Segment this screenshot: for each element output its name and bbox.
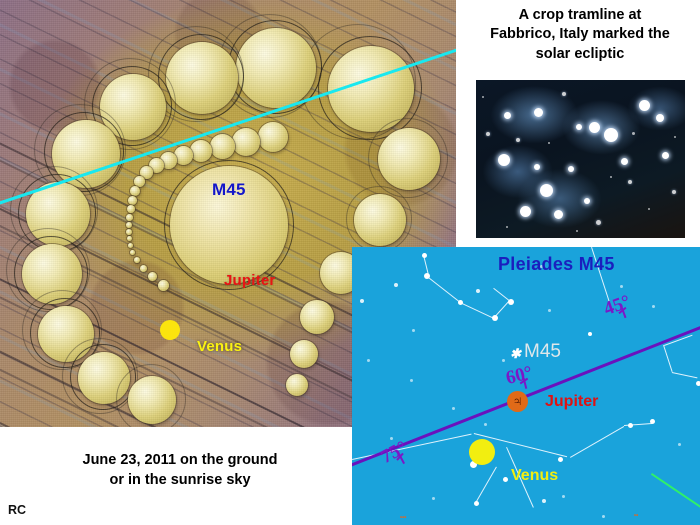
constellation-line [672, 372, 698, 379]
star [367, 359, 370, 362]
jupiter-planet-marker: ♃ [507, 391, 528, 412]
star [482, 96, 484, 98]
star-chart-label-m45: M45 [524, 341, 561, 363]
star [648, 208, 650, 210]
star-chart-label-jupiter: Jupiter [545, 393, 598, 411]
star-chart-title: Pleiades M45 [498, 254, 615, 275]
star [474, 501, 479, 506]
star [458, 300, 463, 305]
aerial-label-jupiter: Jupiter [224, 272, 275, 289]
star [548, 142, 550, 144]
micro-label: ••• [400, 515, 406, 521]
slide-canvas: M45 Jupiter Venus A crop tramline at Fab… [0, 0, 700, 525]
star [548, 309, 551, 312]
star-chart-panel: 45° 60° 75° Pleiades M45 ✱ M45 ♃ Jupiter… [352, 247, 700, 525]
star [576, 124, 582, 130]
star [554, 210, 563, 219]
star [492, 315, 498, 321]
constellation-line [475, 467, 497, 504]
star-chart-label-venus: Venus [511, 467, 558, 485]
tick-mark-icon [519, 377, 532, 390]
star [412, 329, 415, 332]
star [410, 379, 413, 382]
star [652, 305, 655, 308]
aerial-label-m45: M45 [212, 180, 246, 200]
star [672, 190, 676, 194]
star [432, 497, 435, 500]
star [540, 184, 553, 197]
star [562, 92, 566, 96]
star [390, 437, 393, 440]
star [484, 423, 487, 426]
star [502, 359, 505, 362]
star [621, 158, 628, 165]
star [558, 457, 563, 462]
star [588, 332, 592, 336]
star [678, 443, 681, 446]
star [424, 273, 430, 279]
aerial-label-venus: Venus [197, 338, 242, 355]
m45-cluster-icon: ✱ [510, 346, 521, 362]
star [360, 299, 364, 303]
bottom-caption-line-2: or in the sunrise sky [30, 470, 330, 490]
star [662, 152, 669, 159]
star [422, 253, 427, 258]
jupiter-symbol-icon: ♃ [512, 394, 523, 409]
star [674, 136, 676, 138]
star [520, 206, 531, 217]
star [486, 132, 490, 136]
bottom-caption-line-1: June 23, 2011 on the ground [30, 450, 330, 470]
star [602, 515, 605, 518]
star [506, 226, 508, 228]
top-caption: A crop tramline at Fabbrico, Italy marke… [460, 6, 700, 64]
star [568, 166, 574, 172]
celestial-equator-green-line [651, 473, 700, 525]
top-caption-line-2: Fabbrico, Italy marked the [460, 25, 700, 44]
aerial-venus-dot [160, 320, 180, 340]
star [498, 154, 510, 166]
star [576, 230, 578, 232]
constellation-line [663, 345, 673, 372]
star [589, 122, 600, 133]
star [696, 381, 700, 386]
constellation-line [459, 302, 492, 318]
star [639, 100, 650, 111]
ecliptic-tick-60: 60° [504, 362, 535, 390]
star [476, 289, 480, 293]
star [610, 176, 612, 178]
star [628, 180, 632, 184]
star [650, 419, 655, 424]
star [584, 198, 590, 204]
star [604, 128, 618, 142]
star [632, 132, 635, 135]
star [394, 283, 398, 287]
star [516, 138, 520, 142]
constellation-line [425, 275, 461, 303]
star [534, 108, 543, 117]
star [562, 495, 565, 498]
star [504, 112, 511, 119]
constellation-line [493, 288, 510, 301]
pleiades-star-cluster-photograph [476, 80, 685, 238]
bottom-caption: June 23, 2011 on the ground or in the su… [30, 450, 330, 490]
star [656, 114, 664, 122]
top-caption-line-1: A crop tramline at [460, 6, 700, 25]
constellation-line [570, 426, 624, 458]
micro-label: •• [634, 513, 638, 519]
star [542, 499, 546, 503]
star [508, 299, 514, 305]
star [628, 423, 633, 428]
star [452, 407, 455, 410]
star [620, 285, 623, 288]
star [596, 220, 601, 225]
star [534, 164, 540, 170]
top-caption-line-3: solar ecliptic [460, 45, 700, 64]
venus-planet-marker [469, 439, 495, 465]
author-initials: RC [8, 503, 26, 517]
star [503, 477, 508, 482]
